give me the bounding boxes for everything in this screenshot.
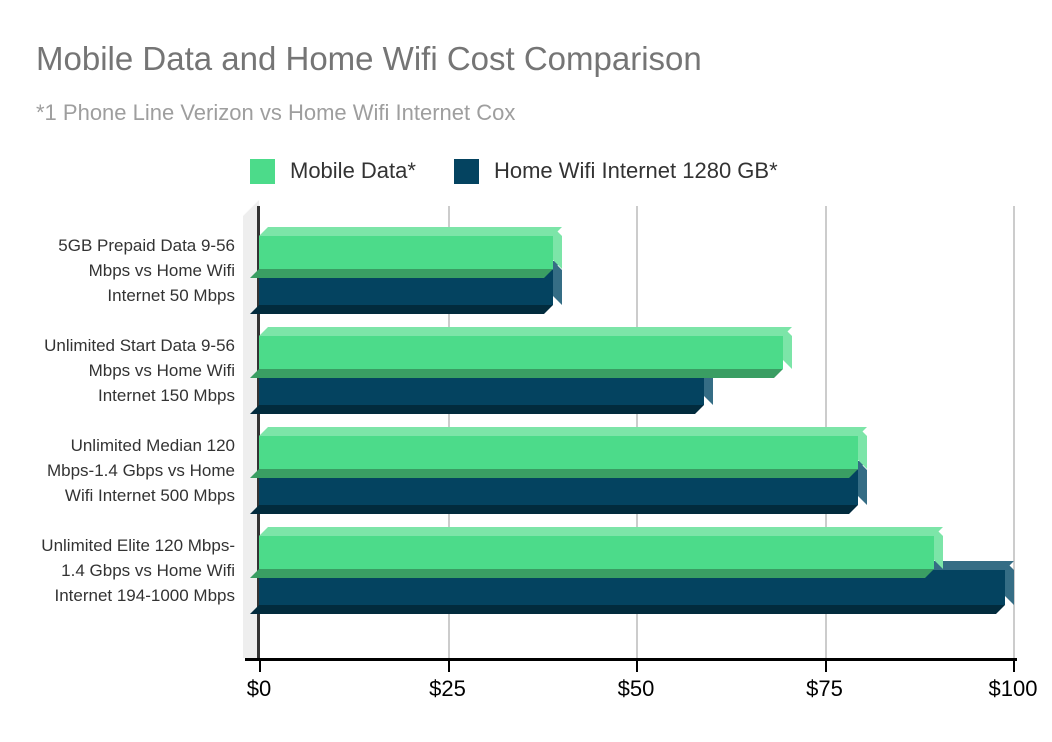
bar-mobile-data-0[interactable] xyxy=(259,236,553,269)
legend-swatch-home-wifi xyxy=(454,159,479,184)
category-label-line: 1.4 Gbps vs Home Wifi xyxy=(5,558,235,583)
category-label-line: Mbps vs Home Wifi xyxy=(5,358,235,383)
category-label-line: Internet 150 Mbps xyxy=(5,383,235,408)
category-label-3: Unlimited Elite 120 Mbps-1.4 Gbps vs Hom… xyxy=(5,533,235,608)
x-tick-75 xyxy=(825,658,827,672)
legend-label-mobile-data: Mobile Data* xyxy=(290,158,416,184)
x-tick-label: $100 xyxy=(989,676,1038,702)
x-axis-line xyxy=(245,658,1017,661)
bar-face xyxy=(259,536,934,569)
legend-label-home-wifi: Home Wifi Internet 1280 GB* xyxy=(494,158,778,184)
bar-shadow-face xyxy=(250,569,934,578)
bar-shadow-face xyxy=(250,605,1005,614)
legend-item-mobile-data[interactable]: Mobile Data* xyxy=(250,158,416,184)
legend-item-home-wifi[interactable]: Home Wifi Internet 1280 GB* xyxy=(454,158,778,184)
x-tick-label: $25 xyxy=(429,676,466,702)
category-label-line: 5GB Prepaid Data 9-56 xyxy=(5,233,235,258)
bar-top-face xyxy=(259,427,867,436)
chart-title: Mobile Data and Home Wifi Cost Compariso… xyxy=(36,40,702,78)
legend-swatch-mobile-data xyxy=(250,159,275,184)
bar-shadow-face xyxy=(250,369,783,378)
category-label-0: 5GB Prepaid Data 9-56Mbps vs Home WifiIn… xyxy=(5,233,235,308)
x-tick-label: $50 xyxy=(618,676,655,702)
category-label-line: Unlimited Median 120 xyxy=(5,433,235,458)
bar-mobile-data-1[interactable] xyxy=(259,336,783,369)
category-label-line: Wifi Internet 500 Mbps xyxy=(5,483,235,508)
category-label-line: Mbps-1.4 Gbps vs Home xyxy=(5,458,235,483)
bar-face xyxy=(259,236,553,269)
bar-shadow-face xyxy=(250,305,553,314)
x-tick-100 xyxy=(1013,658,1015,672)
bar-face xyxy=(259,436,858,469)
category-label-line: Unlimited Start Data 9-56 xyxy=(5,333,235,358)
bar-mobile-data-3[interactable] xyxy=(259,536,934,569)
category-label-line: Internet 50 Mbps xyxy=(5,283,235,308)
bar-top-face xyxy=(259,227,562,236)
bar-side-face xyxy=(783,327,792,369)
category-label-line: Internet 194-1000 Mbps xyxy=(5,583,235,608)
category-label-1: Unlimited Start Data 9-56Mbps vs Home Wi… xyxy=(5,333,235,408)
bar-shadow-face xyxy=(250,505,858,514)
plot-area: $0$25$50$75$100 xyxy=(259,206,1013,658)
chart-subtitle: *1 Phone Line Verizon vs Home Wifi Inter… xyxy=(36,100,515,126)
x-tick-label: $75 xyxy=(806,676,843,702)
bar-face xyxy=(259,336,783,369)
chart-legend: Mobile Data* Home Wifi Internet 1280 GB* xyxy=(250,155,816,187)
bar-chart: Mobile Data and Home Wifi Cost Compariso… xyxy=(0,0,1052,742)
bar-mobile-data-2[interactable] xyxy=(259,436,858,469)
x-tick-25 xyxy=(448,658,450,672)
bar-side-face xyxy=(858,427,867,469)
y-axis-category-labels: 5GB Prepaid Data 9-56Mbps vs Home WifiIn… xyxy=(5,206,235,658)
bar-shadow-face xyxy=(250,269,553,278)
category-label-line: Unlimited Elite 120 Mbps- xyxy=(5,533,235,558)
category-label-line: Mbps vs Home Wifi xyxy=(5,258,235,283)
x-tick-50 xyxy=(636,658,638,672)
x-tick-label: $0 xyxy=(247,676,271,702)
bar-shadow-face xyxy=(250,469,858,478)
x-tick-0 xyxy=(259,658,261,672)
bar-top-face xyxy=(259,327,792,336)
bar-shadow-face xyxy=(250,405,704,414)
bar-top-face xyxy=(259,527,943,536)
category-label-2: Unlimited Median 120Mbps-1.4 Gbps vs Hom… xyxy=(5,433,235,508)
